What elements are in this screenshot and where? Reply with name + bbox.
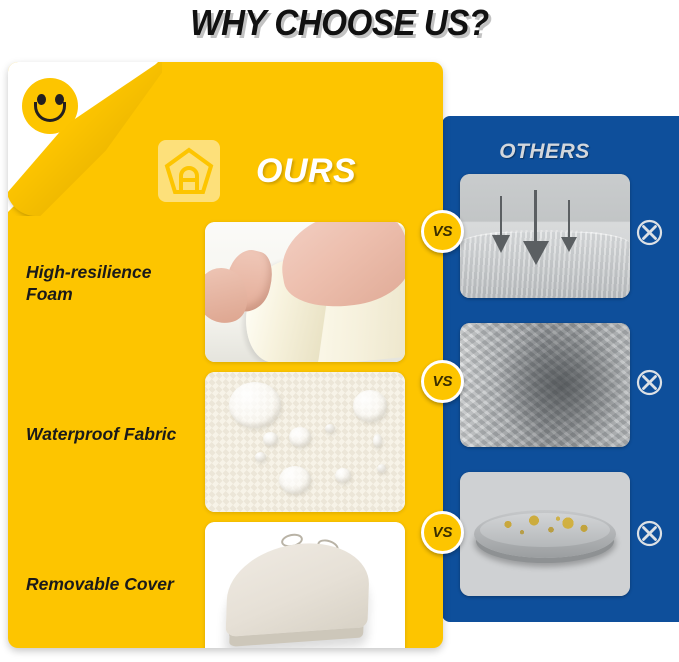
feature-label-removable-cover: Removable Cover <box>26 574 196 596</box>
circle-x-icon <box>636 520 663 547</box>
ours-image-fabric <box>205 372 405 512</box>
water-droplets-on-fabric-photo <box>205 372 405 512</box>
others-image-stained-cushion <box>460 472 630 596</box>
feature-label-waterproof-fabric: Waterproof Fabric <box>26 424 196 446</box>
water-droplet <box>229 382 281 428</box>
feature-label-high-resilience-foam: High-resilience Foam <box>26 262 196 306</box>
ours-image-foam <box>205 222 405 362</box>
water-droplet <box>335 468 351 483</box>
others-image-soaked-fabric <box>460 323 630 447</box>
water-droplet <box>255 452 266 462</box>
water-droplet <box>263 432 278 446</box>
ours-title: OURS <box>256 152 356 191</box>
soaked-gray-fabric-photo <box>460 323 630 447</box>
down-arrow-icon <box>500 196 502 238</box>
vs-badge: VS <box>421 511 464 554</box>
hand-squeezing-foam-photo <box>205 222 405 362</box>
arrows-compressing-flat-foam-photo <box>460 174 630 298</box>
ours-image-cushion <box>205 522 405 648</box>
circle-x-icon <box>636 219 663 246</box>
smiley-mouth <box>34 102 66 122</box>
comparison-infographic: WHY CHOOSE US? OTHERS <box>0 0 679 662</box>
beige-seat-cushion-photo <box>205 522 405 648</box>
circle-x-icon <box>636 369 663 396</box>
water-droplet <box>353 390 387 422</box>
others-image-compressed-foam <box>460 174 630 298</box>
vs-badge: VS <box>421 210 464 253</box>
others-title: OTHERS <box>442 140 647 164</box>
water-droplet <box>373 434 382 448</box>
vs-badge: VS <box>421 360 464 403</box>
pentagon-house-logo-icon <box>158 140 220 202</box>
water-droplet <box>289 427 311 447</box>
cushion-top <box>226 539 371 637</box>
water-droplet <box>325 424 335 433</box>
down-arrow-icon <box>568 200 570 238</box>
page-title: WHY CHOOSE US? <box>27 2 652 44</box>
ours-panel: OURS High-resilience Foam Waterproof Fab… <box>8 62 443 648</box>
down-arrow-icon <box>534 190 537 242</box>
stain-marks <box>496 514 596 540</box>
water-droplet <box>377 464 386 473</box>
stained-gray-round-cushion-photo <box>460 472 630 596</box>
water-droplet <box>279 466 311 494</box>
